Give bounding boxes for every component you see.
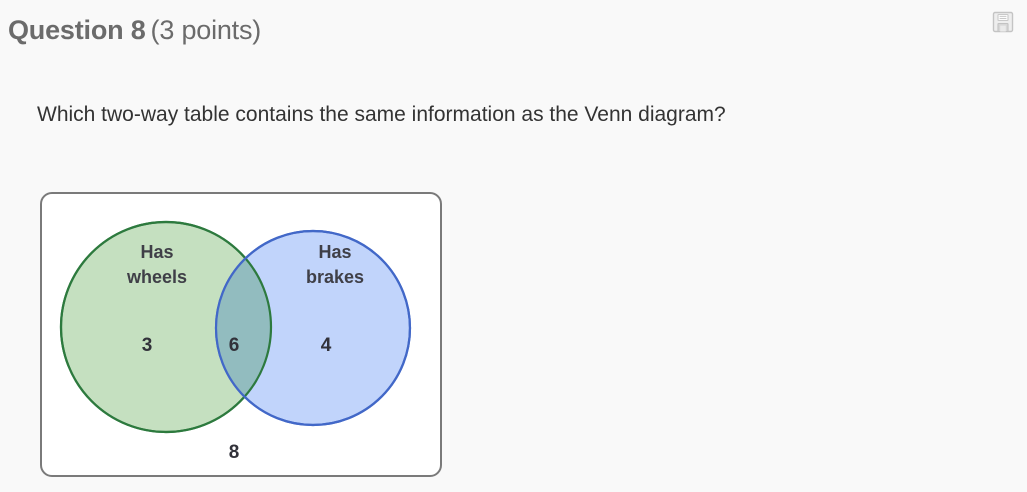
venn-right-set-label-line1: Has xyxy=(318,242,351,262)
venn-left-set-label-line1: Has xyxy=(140,242,173,262)
venn-right-only-count: 4 xyxy=(321,335,332,356)
page-title: Question 8(3 points) xyxy=(8,14,261,46)
venn-left-only-count: 3 xyxy=(142,335,153,356)
venn-left-set-label-line2: wheels xyxy=(126,267,187,287)
save-button[interactable] xyxy=(992,11,1014,33)
venn-diagram-card: Has wheels Has brakes 3 6 4 8 xyxy=(40,192,442,477)
floppy-disk-save-icon xyxy=(992,11,1014,33)
venn-intersection-count: 6 xyxy=(229,335,240,356)
question-prompt-text: Which two-way table contains the same in… xyxy=(37,100,937,130)
question-points-label: (3 points) xyxy=(151,15,262,45)
question-number-label: Question 8 xyxy=(8,15,146,45)
venn-outside-count: 8 xyxy=(229,442,240,463)
venn-diagram-graphic: Has wheels Has brakes 3 6 4 8 xyxy=(42,194,442,477)
venn-right-set-label-line2: brakes xyxy=(306,267,364,287)
